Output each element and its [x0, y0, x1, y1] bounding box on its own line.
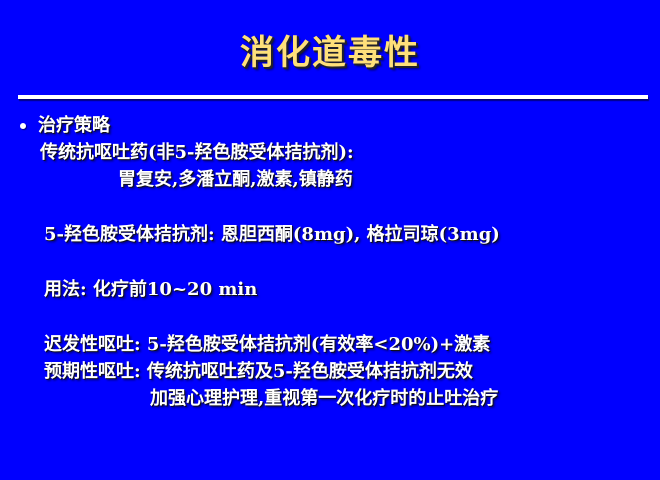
text-line-delayed-vomiting: 迟发性呕吐: 5-羟色胺受体拮抗剂(有效率<20%)+激素 [0, 331, 660, 358]
text-line-psychological-care: 加强心理护理,重视第一次化疗时的止吐治疗 [0, 385, 660, 412]
page-title: 消化道毒性 [240, 32, 420, 74]
slide-title-block: 消化道毒性 [0, 32, 660, 74]
text-line-usage: 用法: 化疗前10~20 min [0, 276, 660, 303]
slide-canvas: 消化道毒性 治疗策略 传统抗呕吐药(非5-羟色胺受体拮抗剂): 胃复安,多潘立酮… [0, 0, 660, 480]
spacer-1 [0, 193, 660, 221]
text-line-ht3-antagonists: 5-羟色胺受体拮抗剂: 恩胆西酮(8mg), 格拉司琼(3mg) [0, 221, 660, 248]
bullet-item-treatment-strategy: 治疗策略 [0, 112, 660, 139]
bullet-item-label: 治疗策略 [38, 115, 110, 136]
bullet-icon [20, 123, 26, 129]
text-line-anticipatory-vomiting: 预期性呕吐: 传统抗呕吐药及5-羟色胺受体拮抗剂无效 [0, 358, 660, 385]
text-line-conventional-drugs: 胃复安,多潘立酮,激素,镇静药 [0, 166, 660, 193]
spacer-2 [0, 248, 660, 276]
title-divider [18, 95, 648, 99]
slide-body: 治疗策略 传统抗呕吐药(非5-羟色胺受体拮抗剂): 胃复安,多潘立酮,激素,镇静… [0, 112, 660, 452]
spacer-3 [0, 303, 660, 331]
text-line-conventional-antiemetics: 传统抗呕吐药(非5-羟色胺受体拮抗剂): [0, 139, 660, 166]
